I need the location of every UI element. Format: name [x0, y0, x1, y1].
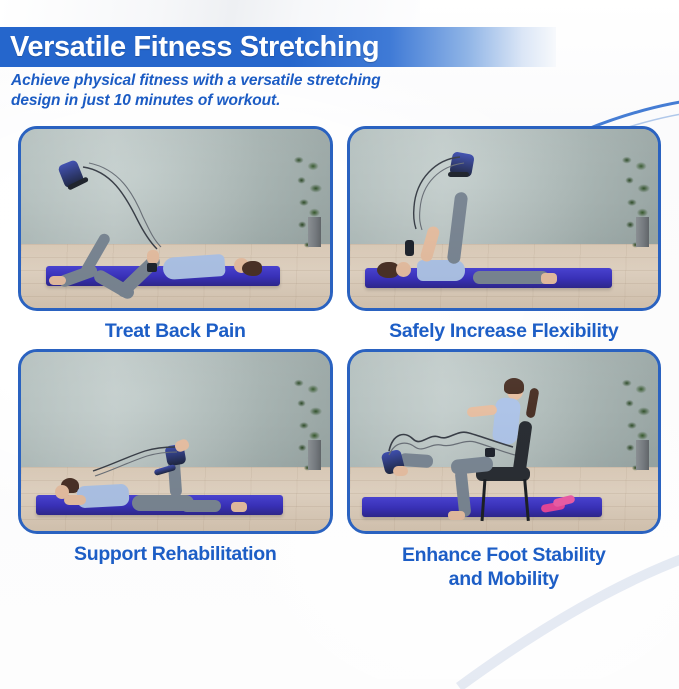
stretching-cord: [383, 425, 518, 475]
caption-line-2: and Mobility: [449, 568, 559, 590]
feature-caption: Safely Increase Flexibility: [389, 320, 618, 343]
subtitle: Achieve physical fitness with a versatil…: [11, 71, 481, 112]
feature-image-enhance-foot-stability: [347, 349, 662, 534]
head: [396, 262, 411, 277]
feature-cell-safely-increase-flexibility: Safely Increase Flexibility: [347, 126, 662, 343]
leg-extended: [181, 500, 221, 512]
stretching-cord: [89, 443, 179, 483]
caption-line-1: Enhance Foot Stability: [402, 544, 606, 566]
caption-line-1: Support Rehabilitation: [74, 543, 276, 565]
foot-planted: [448, 511, 465, 520]
plant-pot: [308, 217, 321, 247]
plant-pot: [636, 440, 649, 470]
stretching-cord: [77, 161, 187, 256]
handle: [485, 448, 495, 457]
feature-cell-enhance-foot-stability: Enhance Foot Stability and Mobility: [347, 349, 662, 592]
caption-line-1: Treat Back Pain: [105, 320, 246, 342]
page-title: Versatile Fitness Stretching: [0, 31, 379, 64]
feature-cell-treat-back-pain: Treat Back Pain: [18, 126, 333, 343]
hair: [242, 261, 262, 276]
feature-caption: Treat Back Pain: [105, 320, 246, 343]
handle: [147, 263, 157, 272]
feature-image-safely-increase-flexibility: [347, 126, 662, 311]
torso: [417, 260, 465, 281]
subtitle-line-2: design in just 10 minutes of workout.: [11, 91, 481, 111]
foot-planted: [49, 276, 66, 285]
title-banner: Versatile Fitness Stretching: [0, 27, 556, 67]
feature-grid: Treat Back Pain: [0, 126, 679, 592]
caption-line-1: Safely Increase Flexibility: [389, 320, 618, 342]
hair: [504, 378, 524, 394]
feature-cell-support-rehabilitation: Support Rehabilitation: [18, 349, 333, 592]
handle: [405, 240, 414, 256]
feature-image-treat-back-pain: [18, 126, 333, 311]
feature-image-support-rehabilitation: [18, 349, 333, 534]
feature-caption: Enhance Foot Stability and Mobility: [402, 543, 606, 592]
foot-extended: [231, 502, 247, 512]
stretching-cord: [408, 153, 478, 233]
subtitle-line-1: Achieve physical fitness with a versatil…: [11, 72, 381, 89]
torso: [162, 254, 225, 280]
leg-flat: [473, 271, 549, 284]
wall: [350, 129, 659, 244]
plant-pot: [636, 217, 649, 247]
hand-holding-cord: [147, 250, 159, 264]
arms-under-chin: [64, 495, 86, 505]
foot-flat: [541, 273, 557, 284]
plant-pot: [308, 440, 321, 470]
feature-caption: Support Rehabilitation: [74, 543, 276, 566]
